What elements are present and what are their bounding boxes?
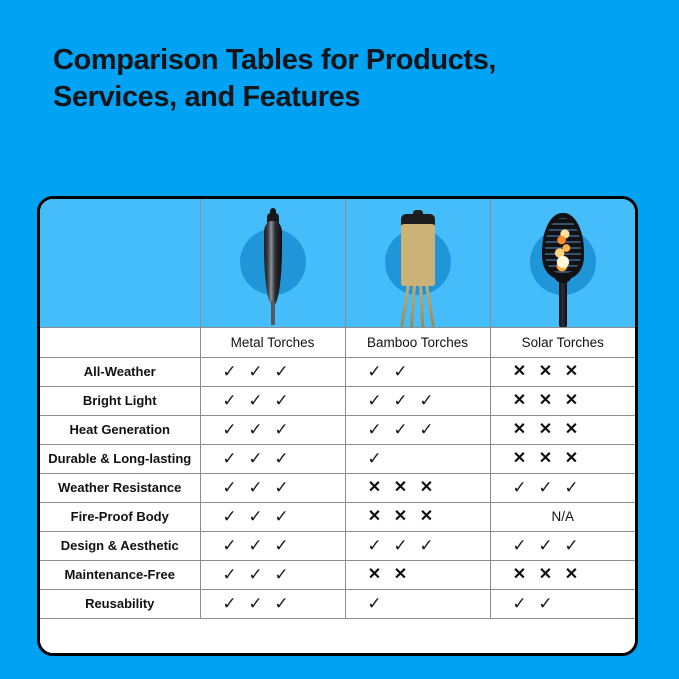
check-icon: ✓ [269, 566, 295, 583]
check-icon: ✓ [217, 392, 243, 409]
table-row: Durable & Long-lasting✓✓✓✓✕✕✕ [40, 444, 635, 473]
check-icon: ✓ [533, 595, 559, 612]
check-icon: ✓ [362, 421, 388, 438]
rating-cell: ✓✓ [345, 357, 490, 386]
cross-icon: ✕ [388, 567, 414, 583]
check-icon: ✓ [414, 537, 440, 554]
rating-cell: ✓✓✓ [200, 473, 345, 502]
check-icon: ✓ [388, 363, 414, 380]
rating-cell: ✓✓✓ [345, 386, 490, 415]
check-icon: ✓ [243, 479, 269, 496]
check-icon: ✓ [362, 363, 388, 380]
check-icon: ✓ [243, 595, 269, 612]
check-icon: ✓ [243, 421, 269, 438]
table-row: Fire-Proof Body✓✓✓✕✕✕N/A [40, 502, 635, 531]
rating-cell: ✓✓ [490, 589, 635, 618]
bamboo-leg-icon [400, 283, 410, 326]
check-icon: ✓ [533, 537, 559, 554]
cross-icon: ✕ [507, 364, 533, 380]
rating-cell: ✓✓✓ [345, 531, 490, 560]
feature-label: Weather Resistance [40, 473, 200, 502]
cross-icon: ✕ [507, 567, 533, 583]
page-title: Comparison Tables for Products, Services… [53, 42, 613, 116]
product-image-cell-solar [490, 199, 635, 327]
table-row: Weather Resistance✓✓✓✕✕✕✓✓✓ [40, 473, 635, 502]
cross-icon: ✕ [559, 567, 585, 583]
feature-label: Design & Aesthetic [40, 531, 200, 560]
table-footer-spacer-cell [40, 618, 635, 644]
check-icon: ✓ [269, 508, 295, 525]
product-name-solar: Solar Torches [490, 327, 635, 357]
check-icon: ✓ [243, 392, 269, 409]
check-icon: ✓ [388, 421, 414, 438]
feature-label: Reusability [40, 589, 200, 618]
check-icon: ✓ [533, 479, 559, 496]
check-icon: ✓ [217, 508, 243, 525]
cross-icon: ✕ [533, 567, 559, 583]
cross-icon: ✕ [533, 422, 559, 438]
check-icon: ✓ [362, 392, 388, 409]
check-icon: ✓ [217, 421, 243, 438]
check-icon: ✓ [269, 479, 295, 496]
check-icon: ✓ [243, 537, 269, 554]
product-name-bamboo: Bamboo Torches [345, 327, 490, 357]
solar-torch-image [491, 199, 636, 327]
cross-icon: ✕ [559, 393, 585, 409]
cross-icon: ✕ [362, 567, 388, 583]
cross-icon: ✕ [507, 393, 533, 409]
product-image-cell-bamboo [345, 199, 490, 327]
rating-cell: ✕✕✕ [490, 386, 635, 415]
check-icon: ✓ [507, 595, 533, 612]
feature-column-header [40, 327, 200, 357]
cross-icon: ✕ [533, 364, 559, 380]
check-icon: ✓ [507, 479, 533, 496]
cross-icon: ✕ [388, 480, 414, 496]
check-icon: ✓ [269, 450, 295, 467]
product-name-row: Metal Torches Bamboo Torches Solar Torch… [40, 327, 635, 357]
rating-cell: ✓ [345, 589, 490, 618]
metal-torch-image [201, 199, 345, 327]
check-icon: ✓ [362, 537, 388, 554]
check-icon: ✓ [217, 537, 243, 554]
feature-label: All-Weather [40, 357, 200, 386]
check-icon: ✓ [414, 392, 440, 409]
solar-torch-head-icon [542, 213, 584, 279]
check-icon: ✓ [217, 595, 243, 612]
table-row: Maintenance-Free✓✓✓✕✕✕✕✕ [40, 560, 635, 589]
rating-cell: ✕✕ [345, 560, 490, 589]
cross-icon: ✕ [388, 509, 414, 525]
table-row: Heat Generation✓✓✓✓✓✓✕✕✕ [40, 415, 635, 444]
product-image-row [40, 199, 635, 327]
metal-torch-stem-icon [271, 301, 275, 325]
product-name-metal: Metal Torches [200, 327, 345, 357]
rating-cell: ✓✓✓ [200, 444, 345, 473]
rating-cell: ✓ [345, 444, 490, 473]
cross-icon: ✕ [559, 451, 585, 467]
check-icon: ✓ [559, 537, 585, 554]
cross-icon: ✕ [362, 480, 388, 496]
check-icon: ✓ [217, 450, 243, 467]
rating-cell: ✕✕✕ [490, 560, 635, 589]
check-icon: ✓ [243, 363, 269, 380]
rating-cell: ✓✓✓ [345, 415, 490, 444]
check-icon: ✓ [217, 479, 243, 496]
check-icon: ✓ [362, 450, 388, 467]
rating-cell: ✕✕✕ [490, 415, 635, 444]
table-row: All-Weather✓✓✓✓✓✕✕✕ [40, 357, 635, 386]
rating-cell: ✓✓✓ [200, 531, 345, 560]
image-row-empty-cell [40, 199, 200, 327]
cross-icon: ✕ [559, 364, 585, 380]
cross-icon: ✕ [507, 422, 533, 438]
cross-icon: ✕ [507, 451, 533, 467]
check-icon: ✓ [559, 479, 585, 496]
check-icon: ✓ [217, 566, 243, 583]
check-icon: ✓ [388, 392, 414, 409]
metal-torch-body-icon [264, 221, 282, 305]
feature-label: Fire-Proof Body [40, 502, 200, 531]
check-icon: ✓ [269, 392, 295, 409]
rating-cell: ✓✓✓ [200, 502, 345, 531]
check-icon: ✓ [269, 537, 295, 554]
feature-label: Durable & Long-lasting [40, 444, 200, 473]
cross-icon: ✕ [533, 451, 559, 467]
cross-icon: ✕ [533, 393, 559, 409]
feature-label: Heat Generation [40, 415, 200, 444]
rating-cell: ✕✕✕ [490, 357, 635, 386]
rating-cell: ✕✕✕ [345, 502, 490, 531]
rating-cell: N/A [490, 502, 635, 531]
rating-cell: ✓✓✓ [200, 560, 345, 589]
check-icon: ✓ [269, 421, 295, 438]
rating-cell: ✓✓✓ [200, 415, 345, 444]
table-footer-spacer [40, 618, 635, 644]
feature-label: Bright Light [40, 386, 200, 415]
bamboo-torch-image [346, 199, 490, 327]
table-row: Design & Aesthetic✓✓✓✓✓✓✓✓✓ [40, 531, 635, 560]
product-image-cell-metal [200, 199, 345, 327]
cross-icon: ✕ [414, 509, 440, 525]
check-icon: ✓ [243, 566, 269, 583]
rating-cell: ✓✓✓ [490, 531, 635, 560]
table-row: Reusability✓✓✓✓✓✓ [40, 589, 635, 618]
solar-torch-flame-icon [551, 223, 575, 273]
rating-cell: ✓✓✓ [200, 386, 345, 415]
rating-cell: ✕✕✕ [490, 444, 635, 473]
check-icon: ✓ [507, 537, 533, 554]
check-icon: ✓ [243, 508, 269, 525]
table-row: Bright Light✓✓✓✓✓✓✕✕✕ [40, 386, 635, 415]
bamboo-torch-body-icon [401, 224, 435, 286]
check-icon: ✓ [388, 537, 414, 554]
check-icon: ✓ [217, 363, 243, 380]
cross-icon: ✕ [362, 509, 388, 525]
rating-cell: ✓✓✓ [200, 589, 345, 618]
rating-cell: ✓✓✓ [490, 473, 635, 502]
rating-cell: ✓✓✓ [200, 357, 345, 386]
comparison-table: Metal Torches Bamboo Torches Solar Torch… [40, 199, 635, 644]
feature-label: Maintenance-Free [40, 560, 200, 589]
check-icon: ✓ [269, 363, 295, 380]
check-icon: ✓ [414, 421, 440, 438]
comparison-table-card: Metal Torches Bamboo Torches Solar Torch… [37, 196, 638, 656]
check-icon: ✓ [362, 595, 388, 612]
check-icon: ✓ [243, 450, 269, 467]
rating-cell: ✕✕✕ [345, 473, 490, 502]
cross-icon: ✕ [414, 480, 440, 496]
cross-icon: ✕ [559, 422, 585, 438]
bamboo-leg-icon [425, 283, 435, 326]
bamboo-leg-icon [410, 283, 416, 326]
bamboo-leg-icon [419, 283, 424, 326]
check-icon: ✓ [269, 595, 295, 612]
